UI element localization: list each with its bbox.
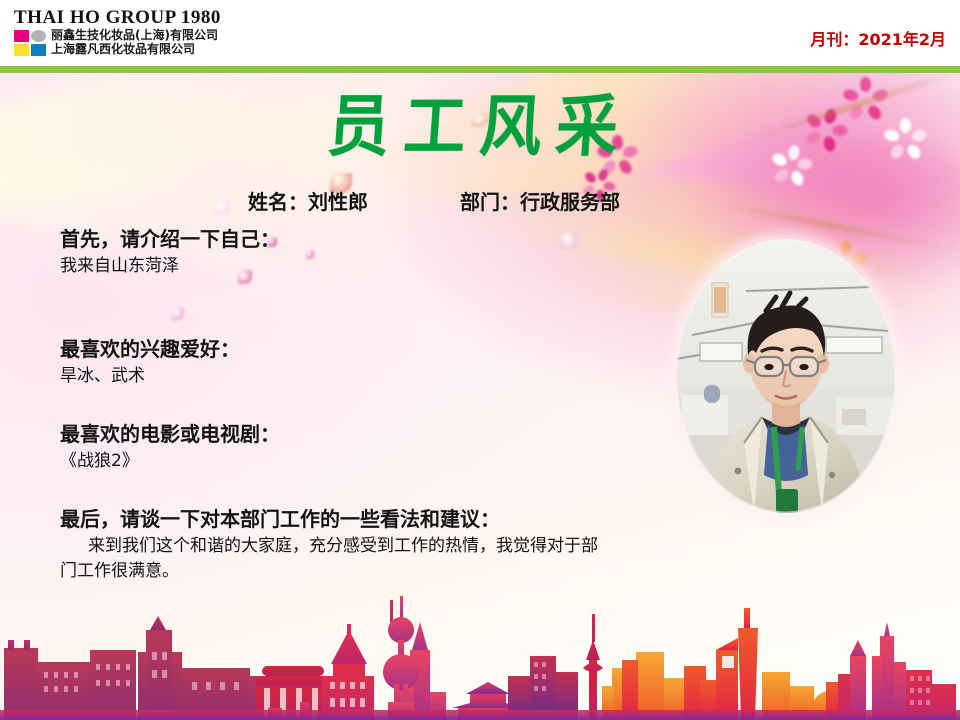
name-value: 刘性郎 — [308, 190, 368, 214]
page-header: THAI HO GROUP 1980 丽鑫生技化妆品(上海)有限公司 上海露凡西… — [0, 0, 960, 66]
answer-text: 来到我们这个和谐的大家庭，充分感受到工作的热情，我觉得对于部门工作很满意。 — [60, 534, 600, 584]
header-divider-bar — [0, 66, 960, 73]
city-skyline-illustration — [0, 590, 960, 720]
swatch-blue-icon — [31, 44, 46, 56]
company-name-line2: 上海露凡西化妆品有限公司 — [51, 43, 195, 56]
employee-photo — [676, 239, 896, 513]
answer-text: 我来自山东菏泽 — [60, 254, 280, 279]
brand-name-en: THAI HO GROUP 1980 — [14, 8, 221, 28]
swatch-gray-icon — [31, 30, 46, 42]
newsletter-page: THAI HO GROUP 1980 丽鑫生技化妆品(上海)有限公司 上海露凡西… — [0, 0, 960, 720]
answer-text: 《战狼2》 — [60, 449, 280, 474]
petal-icon — [172, 308, 184, 320]
answer-text: 旱冰、武术 — [60, 364, 240, 389]
employee-info-line: 姓名：刘性郎部门：行政服务部 — [248, 186, 620, 215]
blossom-icon — [900, 125, 930, 155]
swatch-yellow-icon — [14, 44, 29, 56]
petal-icon — [560, 233, 578, 249]
question-text: 首先，请介绍一下自己： — [60, 226, 280, 252]
petal-icon — [214, 201, 230, 215]
blossom-icon — [820, 115, 848, 143]
qa-block: 最后，请谈一下对本部门工作的一些看法和建议： 来到我们这个和谐的大家庭，充分感受… — [60, 506, 620, 584]
logo-row-1: 丽鑫生技化妆品(上海)有限公司 — [14, 29, 221, 42]
company-name-line1: 丽鑫生技化妆品(上海)有限公司 — [51, 29, 218, 42]
department-value: 行政服务部 — [520, 190, 620, 214]
qa-block: 首先，请介绍一下自己： 我来自山东菏泽 — [60, 226, 280, 279]
company-logo: THAI HO GROUP 1980 丽鑫生技化妆品(上海)有限公司 上海露凡西… — [14, 8, 221, 56]
department-label: 部门： — [460, 190, 520, 214]
question-text: 最后，请谈一下对本部门工作的一些看法和建议： — [60, 506, 620, 532]
blossom-icon — [786, 151, 812, 177]
logo-row-2: 上海露凡西化妆品有限公司 — [14, 43, 221, 56]
question-text: 最喜欢的电影或电视剧： — [60, 421, 280, 447]
name-label: 姓名： — [248, 190, 308, 214]
question-text: 最喜欢的兴趣爱好： — [60, 336, 240, 362]
blossom-icon — [612, 141, 636, 165]
petal-icon — [306, 251, 314, 259]
petal-icon — [472, 113, 488, 127]
swatch-magenta-icon — [14, 30, 29, 42]
qa-block: 最喜欢的电影或电视剧： 《战狼2》 — [60, 421, 280, 474]
issue-date-label: 月刊：2021年2月 — [810, 26, 946, 50]
qa-block: 最喜欢的兴趣爱好： 旱冰、武术 — [60, 336, 240, 389]
